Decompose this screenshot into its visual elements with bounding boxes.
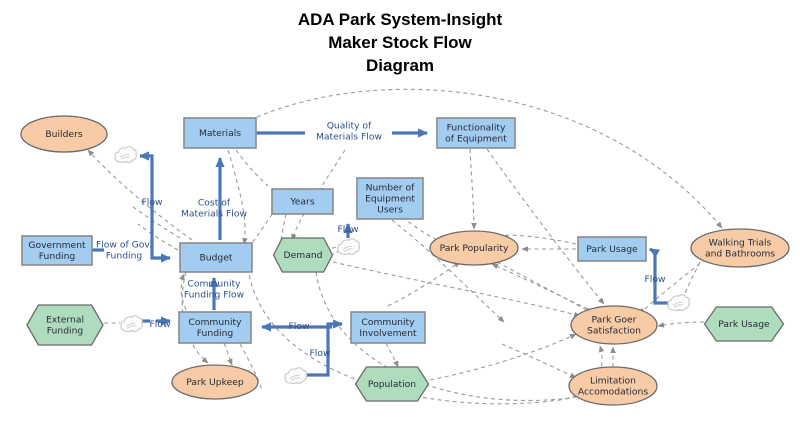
flow-gov-funding-line-b bbox=[152, 240, 170, 258]
flow-community-involvement: Flow bbox=[289, 321, 310, 332]
variable-park_upkeep[interactable]: Park Upkeep bbox=[172, 365, 258, 399]
link-functionality-park-popularity bbox=[470, 149, 474, 229]
stock-community_involvement[interactable]: CommunityInvolvement bbox=[351, 312, 425, 343]
link-community-involvement-population bbox=[386, 343, 398, 367]
link-park-usage-constant-park-goer bbox=[658, 322, 704, 326]
link-park-goer-park-popularity bbox=[492, 264, 588, 309]
variable-label-park_goer_satisfaction: Park GoerSatisfaction bbox=[587, 314, 641, 336]
stock-label-budget: Budget bbox=[199, 252, 232, 263]
variable-builders[interactable]: Builders bbox=[21, 116, 107, 152]
diagram-canvas: ADA Park System-Insight Maker Stock Flow… bbox=[0, 0, 800, 426]
variable-park_popularity[interactable]: Park Popularity bbox=[430, 231, 518, 265]
variable-walking_trials_and_bathrooms[interactable]: Walking Trialsand Bathrooms bbox=[691, 229, 789, 267]
cloud-external-funding bbox=[121, 316, 142, 332]
stock-label-community_involvement: CommunityInvolvement bbox=[359, 317, 417, 339]
flow-builders: Flow bbox=[142, 197, 163, 208]
variable-label-walking_trials_and_bathrooms: Walking Trialsand Bathrooms bbox=[705, 237, 775, 259]
variable-label-builders: Builders bbox=[45, 129, 82, 140]
stock-budget[interactable]: Budget bbox=[180, 243, 252, 272]
stock-years[interactable]: Years bbox=[272, 189, 333, 214]
link-materials-years bbox=[236, 150, 268, 186]
link-budget-builders-2 bbox=[132, 206, 180, 238]
flow-external-funding: Flow bbox=[150, 319, 171, 330]
stock-flow-svg: MaterialsFunctionalityof EquipmentYearsN… bbox=[0, 0, 800, 426]
cloud-park-usage bbox=[668, 295, 689, 311]
flow-population: Flow bbox=[310, 348, 331, 359]
constant-label-demand: Demand bbox=[284, 250, 323, 261]
link-community-involvement-park-popularity bbox=[388, 262, 460, 306]
variable-label-park_popularity: Park Popularity bbox=[440, 243, 509, 254]
link-budget-builders bbox=[88, 150, 192, 240]
flow-cost-of-materials: Cost ofMaterials Flow bbox=[181, 197, 247, 219]
flow-equipment-users: Flow bbox=[338, 224, 359, 235]
flow-quality-of-materials: Quality ofMaterials Flow bbox=[316, 120, 382, 142]
variable-limitation_accomodations[interactable]: LimitationAccomodations bbox=[569, 367, 657, 405]
constant-demand[interactable]: Demand bbox=[274, 238, 333, 272]
flow-gov-funding: Flow of Gov.Funding bbox=[96, 239, 152, 261]
flow-park-usage: Flow bbox=[645, 274, 666, 285]
link-functionality-park-goer-satisfaction bbox=[487, 149, 604, 304]
stock-community_funding[interactable]: CommunityFunding bbox=[179, 312, 251, 343]
constant-label-park_usage_constant: Park Usage bbox=[718, 319, 770, 330]
flow-community-funding: CommunityFunding Flow bbox=[184, 278, 245, 300]
link-park-popularity-park-goer bbox=[497, 262, 592, 313]
constant-external_funding[interactable]: ExternalFunding bbox=[27, 305, 103, 345]
link-community-funding-park-upkeep bbox=[224, 343, 232, 365]
cloud-equipment-users bbox=[338, 239, 359, 255]
stock-label-park_usage_stock: Park Usage bbox=[586, 244, 638, 255]
stock-government_funding[interactable]: GovernmentFunding bbox=[22, 236, 92, 265]
stock-park_usage_stock[interactable]: Park Usage bbox=[578, 237, 646, 261]
constant-label-population: Population bbox=[368, 379, 416, 390]
link-materials-budget bbox=[228, 150, 245, 244]
constant-label-external_funding: ExternalFunding bbox=[46, 314, 84, 336]
constant-population[interactable]: Population bbox=[356, 367, 429, 401]
stock-functionality_of_equipment[interactable]: Functionalityof Equipment bbox=[437, 118, 515, 148]
stock-materials[interactable]: Materials bbox=[184, 118, 256, 148]
stock-label-materials: Materials bbox=[199, 128, 241, 139]
cloud-builders bbox=[115, 147, 136, 163]
cloud-population bbox=[285, 368, 306, 384]
variable-label-park_upkeep: Park Upkeep bbox=[186, 377, 244, 388]
link-population-park-goer bbox=[430, 334, 576, 380]
link-demand-park-goer bbox=[333, 262, 580, 316]
stock-label-years: Years bbox=[289, 196, 314, 207]
stock-label-functionality_of_equipment: Functionalityof Equipment bbox=[445, 122, 507, 144]
stock-number_of_equipment_users[interactable]: Number ofEquipmentUsers bbox=[357, 178, 423, 219]
constant-park_usage_constant[interactable]: Park Usage bbox=[705, 307, 784, 341]
link-walking-trials-cloud bbox=[684, 262, 700, 296]
variable-park_goer_satisfaction[interactable]: Park GoerSatisfaction bbox=[571, 306, 657, 344]
